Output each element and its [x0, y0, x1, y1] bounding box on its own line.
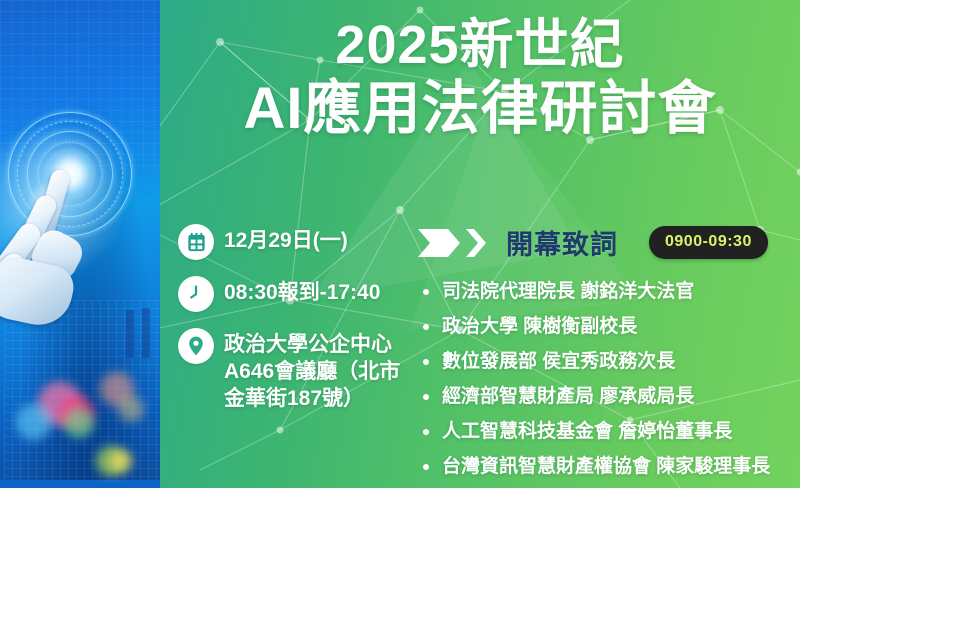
info-text-date: 12月29日(一): [224, 224, 403, 254]
info-row-date: 12月29日(一): [178, 224, 403, 254]
hero-image-panel: [0, 0, 160, 488]
speaker-item: 政治大學 陳樹衡副校長: [416, 309, 796, 344]
bokeh-light: [110, 450, 132, 472]
calendar-icon: [178, 224, 214, 260]
bokeh-light: [64, 408, 94, 438]
speaker-item: 司法院代理院長 謝銘洋大法官: [416, 274, 796, 309]
session-block: 開幕致詞 0900-09:30 司法院代理院長 謝銘洋大法官 政治大學 陳樹衡副…: [416, 222, 796, 484]
clock-icon: [178, 276, 214, 312]
event-info-list: 12月29日(一) 08:30報到-17:40 政治大學公企中心 A646會議廳…: [178, 224, 403, 412]
chart-bar-decoration: [126, 310, 134, 358]
chart-bar-decoration: [142, 308, 150, 358]
bokeh-light: [118, 396, 144, 422]
bokeh-light: [16, 404, 52, 440]
info-text-venue: 政治大學公企中心 A646會議廳（北市 金華街187號）: [224, 328, 403, 412]
info-row-time: 08:30報到-17:40: [178, 276, 403, 306]
session-title: 開幕致詞: [506, 223, 618, 262]
speaker-item: 人工智慧科技基金會 詹婷怡董事長: [416, 414, 796, 449]
info-text-time: 08:30報到-17:40: [224, 276, 403, 306]
double-chevron-right-icon: [416, 226, 488, 260]
robot-hand: [0, 175, 122, 335]
speaker-item: 經濟部智慧財產局 廖承威局長: [416, 379, 796, 414]
speaker-list: 司法院代理院長 謝銘洋大法官 政治大學 陳樹衡副校長 數位發展部 侯宜秀政務次長…: [416, 274, 796, 484]
title-line-1: 2025新世紀: [160, 14, 800, 76]
speaker-item: 台灣資訊智慧財產權協會 陳家駿理事長: [416, 449, 796, 484]
session-time-badge: 0900-09:30: [649, 226, 768, 259]
poster-title: 2025新世紀 AI應用法律研討會: [160, 14, 800, 142]
robot-hand-photo: [0, 0, 160, 480]
speaker-item: 數位發展部 侯宜秀政務次長: [416, 344, 796, 379]
seminar-poster: 2025新世紀 AI應用法律研討會 12月29日(一): [0, 0, 800, 488]
session-header: 開幕致詞 0900-09:30: [416, 222, 796, 264]
info-row-venue: 政治大學公企中心 A646會議廳（北市 金華街187號）: [178, 328, 403, 412]
title-line-2: AI應用法律研討會: [160, 76, 800, 142]
location-pin-icon: [178, 328, 214, 364]
